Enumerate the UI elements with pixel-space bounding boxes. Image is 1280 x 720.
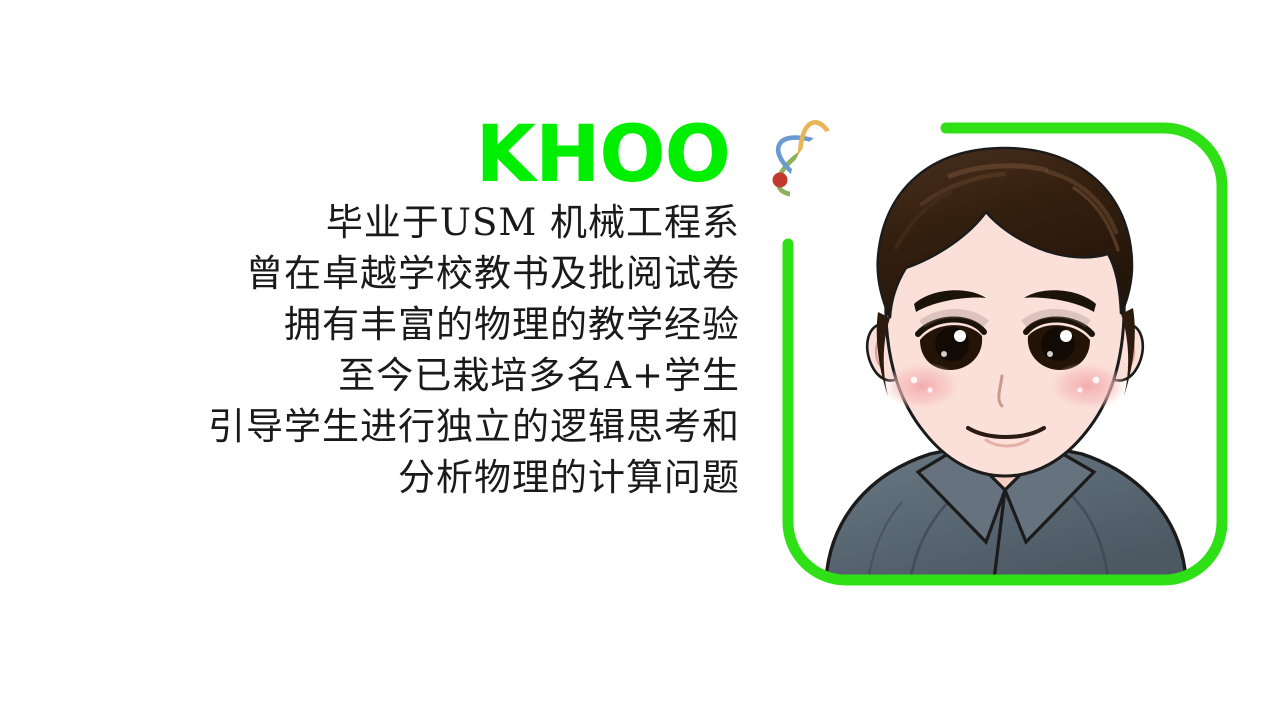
portrait-frame: [778, 118, 1230, 590]
bio-line: 至今已栽培多名A+学生: [60, 350, 750, 401]
bio-line: 分析物理的计算问题: [60, 452, 750, 503]
bio-line-list: 毕业于USM 机械工程系 曾在卓越学校教书及批阅试卷 拥有丰富的物理的教学经验 …: [60, 197, 750, 503]
bio-block: KHOO 毕业于USM 机械工程系 曾在卓越学校教书及批阅试卷 拥有丰富的物理的…: [60, 118, 750, 503]
bio-line: 毕业于USM 机械工程系: [60, 197, 750, 248]
bio-line: 引导学生进行独立的逻辑思考和: [60, 401, 750, 452]
bio-line: 曾在卓越学校教书及批阅试卷: [60, 248, 750, 299]
page-title: KHOO: [60, 118, 740, 193]
profile-card: KHOO 毕业于USM 机械工程系 曾在卓越学校教书及批阅试卷 拥有丰富的物理的…: [0, 0, 1280, 720]
bio-line: 拥有丰富的物理的教学经验: [60, 299, 750, 350]
